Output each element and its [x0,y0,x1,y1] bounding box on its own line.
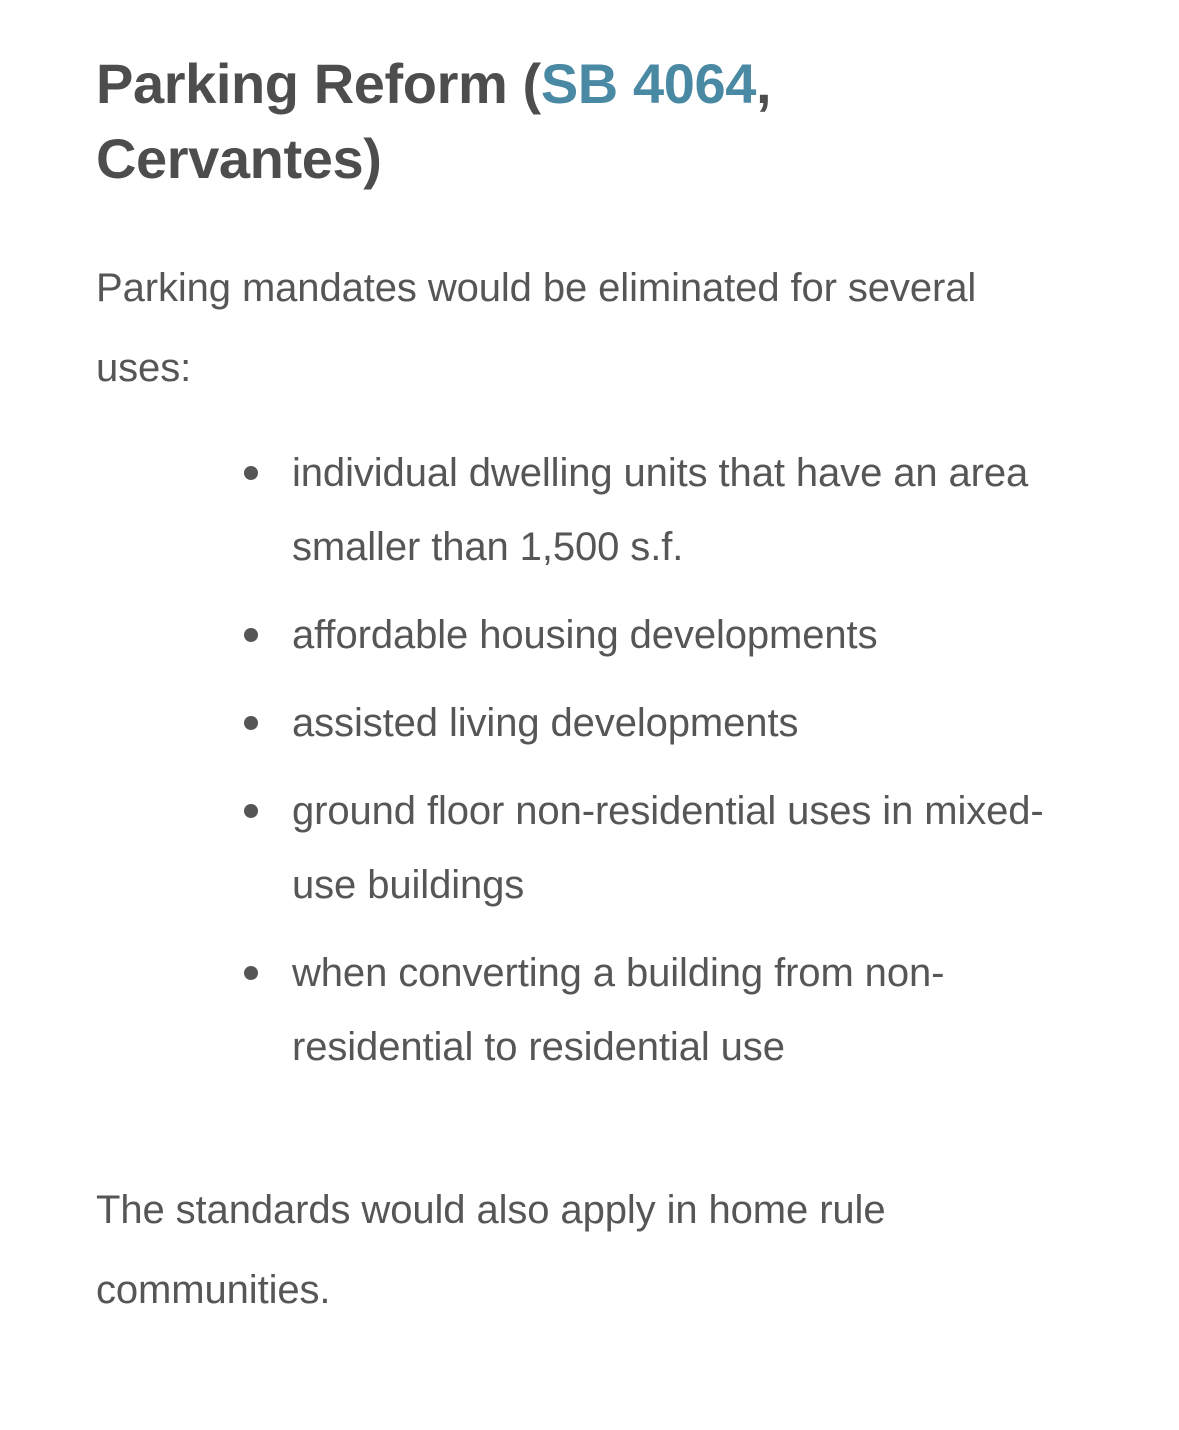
article-page: Parking Reform (SB 4064, Cervantes) Park… [0,0,1179,1430]
bill-link-sb4064[interactable]: SB 4064 [541,52,756,115]
closing-paragraph: The standards would also apply in home r… [96,1170,1041,1330]
page-title: Parking Reform (SB 4064, Cervantes) [96,0,856,196]
list-item-label: assisted living developments [292,701,798,745]
intro-paragraph: Parking mandates would be eliminated for… [96,248,1001,408]
bullet-disc-icon [244,466,258,480]
bullet-disc-icon [244,966,258,980]
exempt-uses-list: individual dwelling units that have an a… [96,436,1083,1084]
list-item: affordable housing developments [244,598,1082,672]
list-item-label: individual dwelling units that have an a… [292,451,1028,569]
list-item: when converting a building from non-resi… [244,936,1082,1084]
list-item: ground floor non-residential uses in mix… [244,774,1082,922]
bullet-disc-icon [244,628,258,642]
page-title-prefix: Parking Reform ( [96,52,541,115]
list-item: individual dwelling units that have an a… [244,436,1082,584]
list-item: assisted living developments [244,686,1082,760]
list-item-label: when converting a building from non-resi… [292,951,944,1069]
list-item-label: affordable housing developments [292,613,877,657]
bullet-disc-icon [244,716,258,730]
list-item-label: ground floor non-residential uses in mix… [292,789,1044,907]
bullet-disc-icon [244,804,258,818]
